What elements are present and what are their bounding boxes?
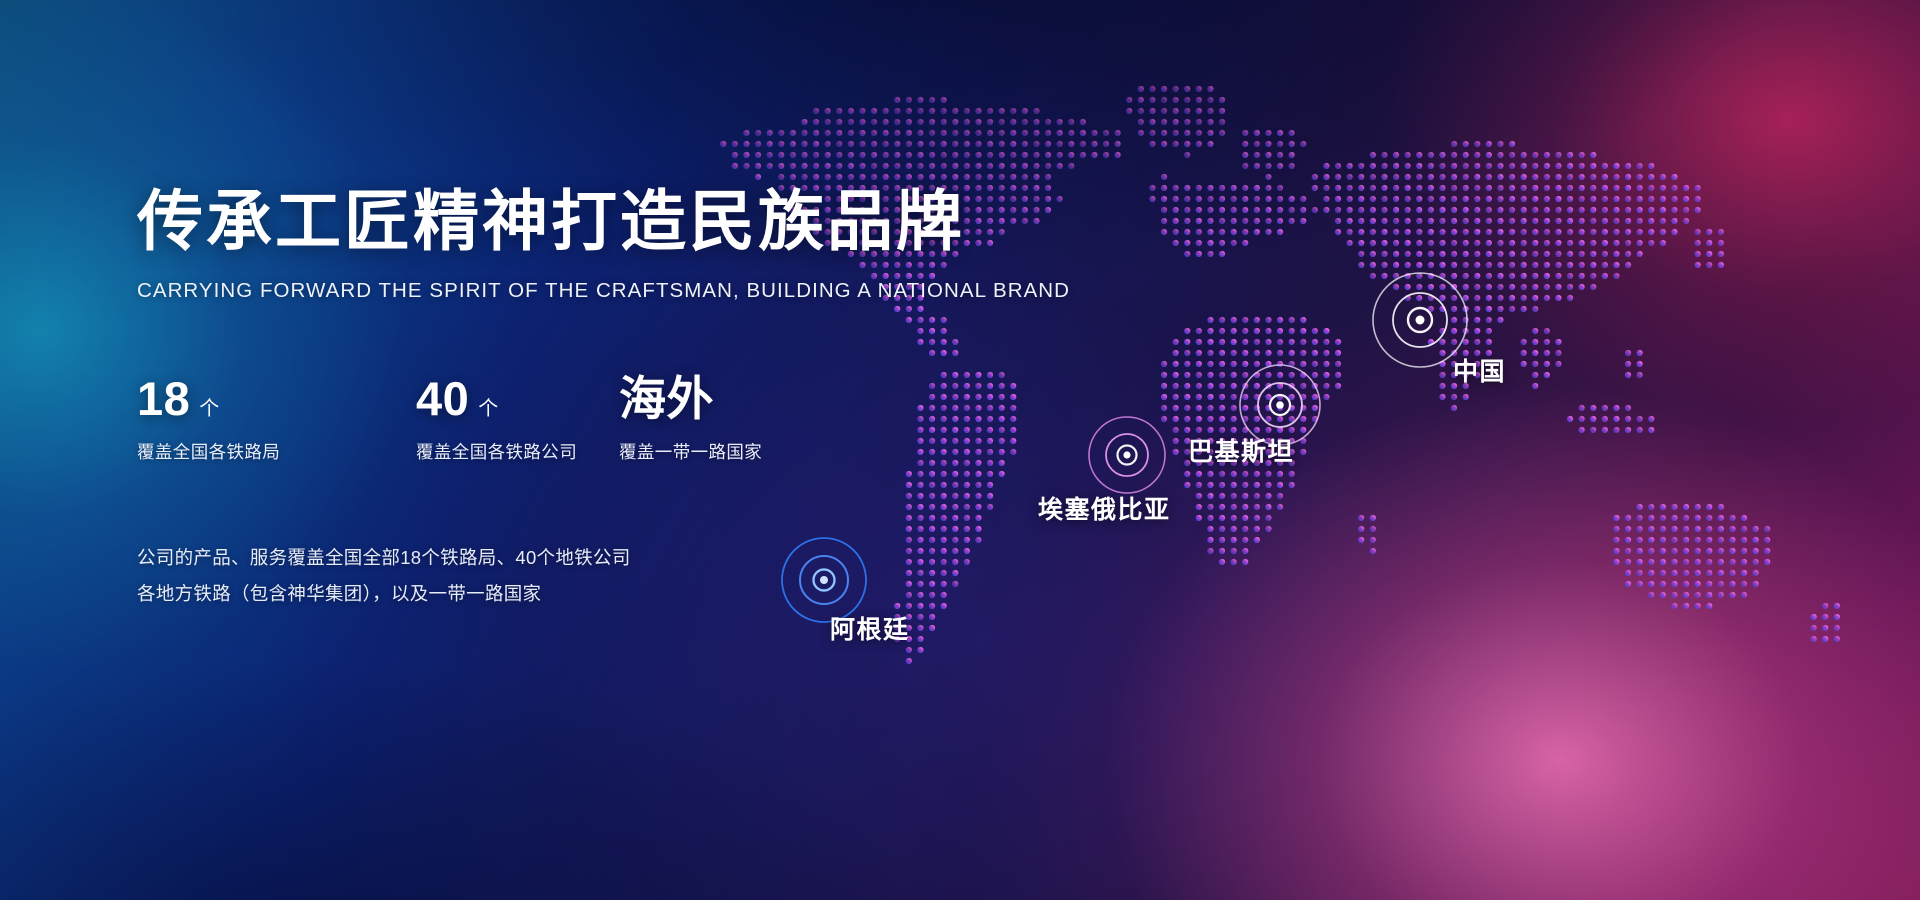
map-label-china: 中国 bbox=[1453, 352, 1506, 388]
description-line-1: 公司的产品、服务覆盖全国全部18个铁路局、40个地铁公司 bbox=[137, 540, 1037, 576]
page-subtitle: CARRYING FORWARD THE SPIRIT OF THE CRAFT… bbox=[137, 279, 1037, 303]
stat-label: 覆盖一带一路国家 bbox=[619, 439, 762, 464]
stat-item-railway-companies: 40 个 覆盖全国各铁路公司 bbox=[416, 375, 619, 464]
hero-banner: 中国 巴基斯坦 埃塞俄比亚 bbox=[0, 0, 1920, 900]
stat-value: 40 bbox=[416, 375, 469, 422]
hero-content: 传承工匠精神打造民族品牌 CARRYING FORWARD THE SPIRIT… bbox=[137, 186, 1037, 612]
description-line-2: 各地方铁路（包含神华集团），以及一带一路国家 bbox=[137, 576, 1037, 612]
stat-value: 海外 bbox=[619, 375, 714, 422]
stat-item-overseas: 海外 覆盖一带一路国家 bbox=[619, 375, 762, 464]
stat-value: 18 bbox=[137, 375, 190, 422]
stat-unit: 个 bbox=[478, 399, 498, 419]
page-title: 传承工匠精神打造民族品牌 bbox=[137, 186, 1037, 257]
stat-label: 覆盖全国各铁路局 bbox=[137, 439, 416, 464]
stat-top: 18 个 bbox=[137, 375, 416, 422]
stat-item-railway-bureaus: 18 个 覆盖全国各铁路局 bbox=[137, 375, 416, 464]
map-label-ethiopia: 埃塞俄比亚 bbox=[1038, 490, 1171, 526]
map-label-argentina: 阿根廷 bbox=[830, 610, 910, 646]
stat-label: 覆盖全国各铁路公司 bbox=[416, 439, 619, 464]
map-label-pakistan: 巴基斯坦 bbox=[1188, 432, 1294, 468]
stats-row: 18 个 覆盖全国各铁路局 40 个 覆盖全国各铁路公司 海外 覆盖一带一路国家 bbox=[137, 375, 1037, 464]
stat-top: 40 个 bbox=[416, 375, 619, 422]
stat-top: 海外 bbox=[619, 375, 762, 422]
description-block: 公司的产品、服务覆盖全国全部18个铁路局、40个地铁公司 各地方铁路（包含神华集… bbox=[137, 540, 1037, 612]
stat-unit: 个 bbox=[199, 399, 219, 419]
